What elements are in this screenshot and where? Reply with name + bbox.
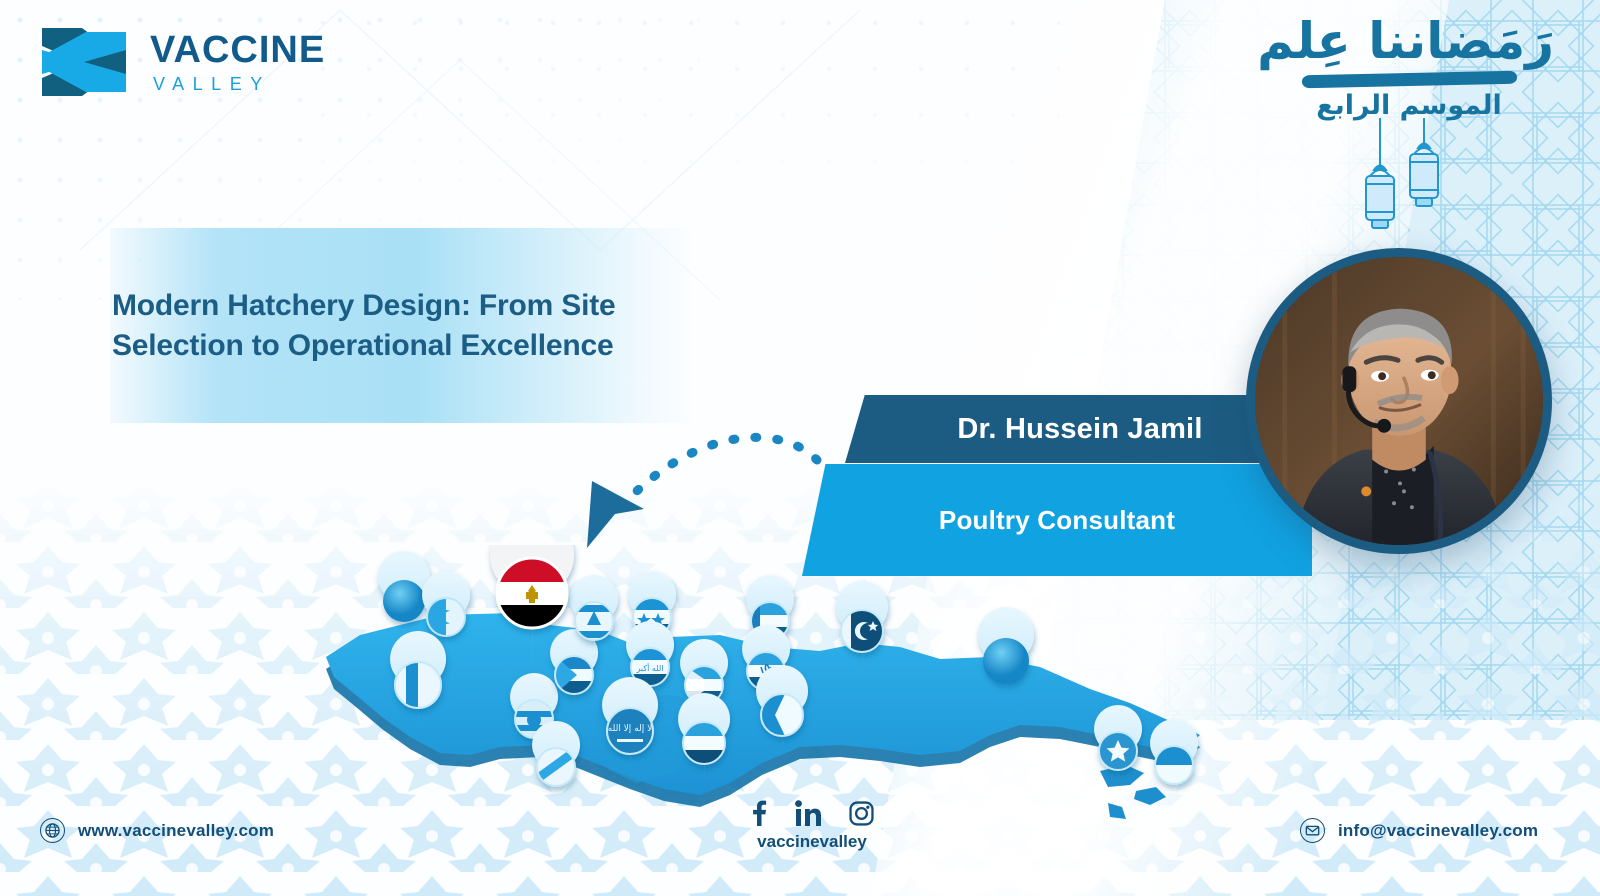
website-url: www.vaccinevalley.com bbox=[78, 821, 274, 841]
session-title-card: Modern Hatchery Design: From Site Select… bbox=[110, 228, 698, 423]
speaker-name: Dr. Hussein Jamil bbox=[957, 413, 1202, 446]
instagram-icon[interactable] bbox=[849, 801, 874, 826]
map-pin-somalia bbox=[1094, 705, 1142, 803]
logo-subtitle: VALLEY bbox=[150, 75, 325, 93]
speaker-portrait bbox=[1255, 257, 1543, 545]
brush-underline-icon bbox=[1301, 71, 1516, 88]
middle-east-map: الله أكبر bbox=[300, 545, 1220, 835]
facebook-icon[interactable] bbox=[750, 800, 767, 826]
social-links: vaccinevalley bbox=[722, 798, 902, 852]
email-address: info@vaccinevalley.com bbox=[1338, 821, 1538, 841]
dot-texture-top bbox=[300, 0, 1060, 240]
map-pin-indonesia bbox=[1150, 719, 1198, 817]
svg-text:الله أكبر: الله أكبر bbox=[636, 663, 664, 673]
logo-title: VACCINE bbox=[150, 31, 325, 69]
envelope-icon bbox=[1300, 818, 1325, 843]
social-handle: vaccinevalley bbox=[722, 832, 902, 852]
title-line-1: Modern Hatchery Design: From Site bbox=[112, 286, 616, 326]
globe-icon bbox=[40, 818, 65, 843]
footer-email[interactable]: info@vaccinevalley.com bbox=[1300, 818, 1538, 843]
banner-canvas: VACCINE VALLEY رَمَضاننا عِلم الموسم الر… bbox=[0, 0, 1600, 896]
title-line-2: Selection to Operational Excellence bbox=[112, 326, 616, 366]
page-title: Modern Hatchery Design: From Site Select… bbox=[110, 286, 624, 365]
speaker-role-banner: Poultry Consultant bbox=[802, 464, 1312, 576]
ramadan-main-title: رَمَضاننا عِلم bbox=[1264, 14, 1554, 69]
speaker-role: Poultry Consultant bbox=[939, 505, 1175, 536]
speaker-name-banner: Dr. Hussein Jamil bbox=[845, 395, 1315, 463]
svg-text:لا إله إلا الله: لا إله إلا الله bbox=[608, 724, 652, 734]
ramadan-lantern-icon bbox=[1352, 118, 1482, 246]
vaccine-valley-x-mark-icon bbox=[36, 26, 132, 98]
dashed-curved-arrow-icon bbox=[545, 405, 845, 555]
avatar bbox=[1246, 248, 1552, 554]
map-pin-sudan bbox=[532, 721, 580, 819]
ramadan-season-label: الموسم الرابع bbox=[1264, 90, 1554, 121]
footer-website[interactable]: www.vaccinevalley.com bbox=[40, 818, 274, 843]
ramadan-lockup: رَمَضاننا عِلم الموسم الرابع bbox=[1264, 14, 1554, 121]
brand-logo[interactable]: VACCINE VALLEY bbox=[36, 26, 325, 98]
linkedin-icon[interactable] bbox=[795, 800, 821, 826]
